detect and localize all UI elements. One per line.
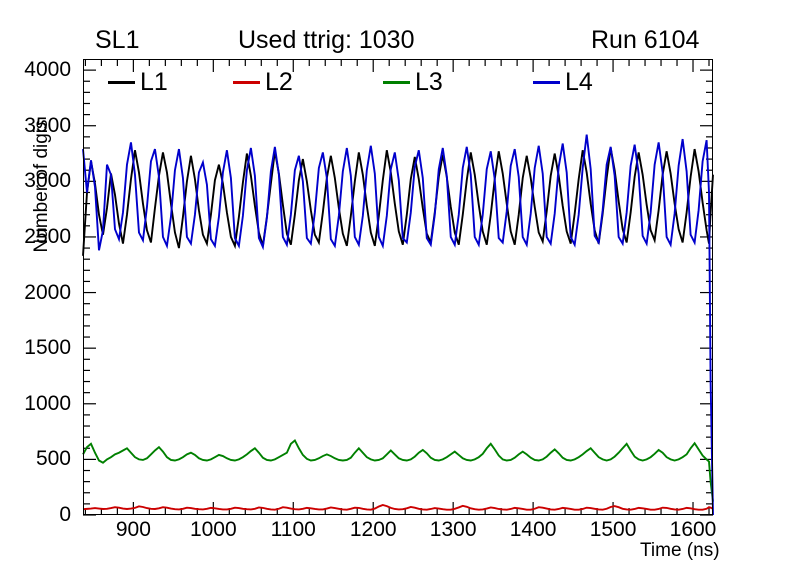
x-tick-label: 1100 [271, 518, 316, 542]
ttrig-label: Used ttrig: 1030 [238, 28, 415, 53]
x-tick-label: 1000 [190, 518, 237, 542]
y-tick-label: 4000 [24, 58, 71, 82]
legend-label: L1 [140, 70, 168, 95]
legend-swatch-l1-icon [108, 81, 135, 84]
x-tick-label: 1600 [670, 518, 717, 542]
legend-item-l2[interactable]: L2 [233, 65, 293, 99]
x-tick-label: 900 [116, 518, 151, 542]
x-tick-label: 1300 [430, 518, 477, 542]
y-tick-label: 1500 [24, 336, 71, 360]
legend-item-l1[interactable]: L1 [108, 65, 168, 99]
legend-swatch-l2-icon [233, 81, 260, 84]
x-tick-label: 1400 [510, 518, 557, 542]
y-tick-label: 500 [36, 447, 71, 471]
chart-root: SL1 Used ttrig: 1030 Run 6104 Number of … [0, 0, 796, 572]
x-tick-label: 1200 [350, 518, 397, 542]
legend-label: L2 [265, 70, 293, 95]
y-tick-label: 3000 [24, 169, 71, 193]
legend-item-l4[interactable]: L4 [533, 65, 593, 99]
legend-swatch-l4-icon [533, 81, 560, 84]
x-tick-label: 1500 [590, 518, 637, 542]
plot-area: L1L2L3L4 [83, 59, 713, 515]
legend-label: L3 [415, 70, 443, 95]
plot-frame [83, 59, 713, 515]
y-tick-label: 2000 [24, 281, 71, 305]
y-tick-label: 1000 [24, 392, 71, 416]
legend-swatch-l3-icon [383, 81, 410, 84]
legend: L1L2L3L4 [83, 65, 713, 99]
run-label: Run 6104 [591, 28, 699, 53]
superlayer-label: SL1 [95, 28, 139, 53]
y-axis-ticklabels: 05001000150020002500300035004000 [0, 59, 77, 515]
y-tick-label: 3500 [24, 114, 71, 138]
y-tick-label: 0 [59, 503, 71, 527]
y-tick-label: 2500 [24, 225, 71, 249]
legend-item-l3[interactable]: L3 [383, 65, 443, 99]
x-axis-ticklabels: 9001000110012001300140015001600 [83, 518, 713, 548]
legend-label: L4 [565, 70, 593, 95]
